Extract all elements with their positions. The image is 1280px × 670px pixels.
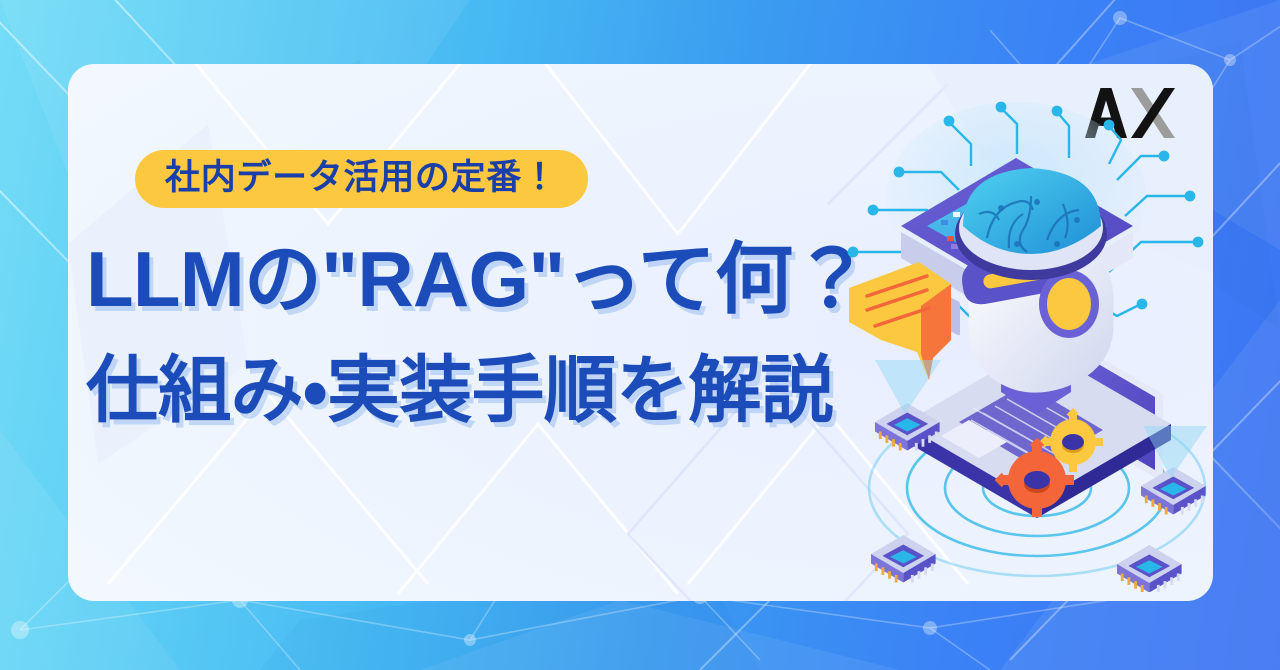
- content-card: 社内データ活用の定番！ LLMの"RAG"って何？ 仕組み・実装手順を解説: [68, 64, 1213, 601]
- badge-label: 社内データ活用の定番！: [135, 150, 588, 208]
- ai-robot-laptop-illustration: [841, 92, 1213, 592]
- banner-root: 社内データ活用の定番！ LLMの"RAG"って何？ 仕組み・実装手順を解説: [0, 0, 1280, 670]
- page-title-line-1: LLMの"RAG"って何？: [86, 240, 870, 318]
- page-title-line-2: 仕組み・実装手順を解説: [86, 354, 833, 427]
